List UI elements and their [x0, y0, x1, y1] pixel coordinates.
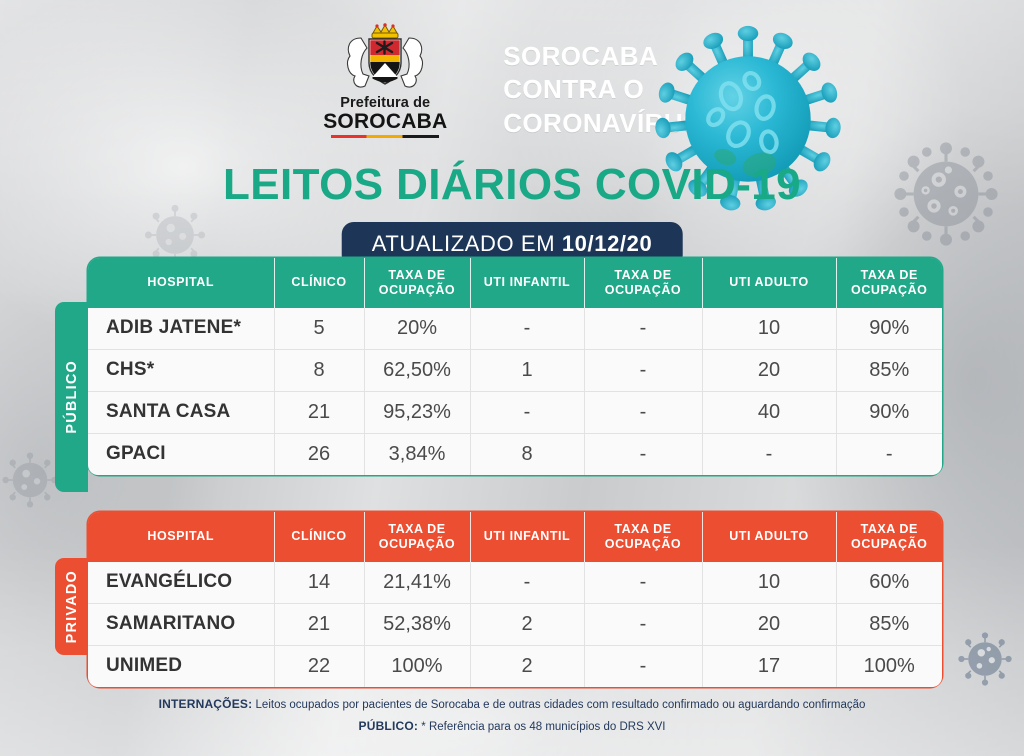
cell-taxa-infantil: -: [584, 645, 702, 687]
background-virus-icon: [954, 628, 1016, 690]
cell-uti-adulto: 10: [702, 308, 836, 350]
private-side-label-text: PRIVADO: [64, 570, 80, 643]
cell-uti-infantil: 2: [470, 603, 584, 645]
footer-line-1: INTERNAÇÕES: Leitos ocupados por pacient…: [0, 694, 1024, 716]
col-taxa-infantil: TAXA DE OCUPAÇÃO: [584, 512, 702, 562]
cell-clinico: 26: [274, 433, 364, 475]
cell-uti-adulto: 20: [702, 603, 836, 645]
table-row: UNIMED 22 100% 2 - 17 100%: [88, 645, 942, 687]
public-table-head: HOSPITAL CLÍNICO TAXA DE OCUPAÇÃO UTI IN…: [88, 258, 942, 308]
table-row: ADIB JATENE* 5 20% - - 10 90%: [88, 308, 942, 350]
table-row: SANTA CASA 21 95,23% - - 40 90%: [88, 391, 942, 433]
cell-taxa-adulto: 90%: [836, 308, 942, 350]
cell-uti-infantil: -: [470, 308, 584, 350]
cell-clinico: 8: [274, 349, 364, 391]
cell-taxa-infantil: -: [584, 308, 702, 350]
public-beds-table: HOSPITAL CLÍNICO TAXA DE OCUPAÇÃO UTI IN…: [88, 258, 942, 475]
footer-line-2: PÚBLICO: * Referência para os 48 municíp…: [0, 716, 1024, 738]
table-row: EVANGÉLICO 14 21,41% - - 10 60%: [88, 562, 942, 604]
cell-taxa-adulto: 90%: [836, 391, 942, 433]
cell-hospital: GPACI: [88, 433, 274, 475]
cell-uti-adulto: 40: [702, 391, 836, 433]
cell-hospital: ADIB JATENE*: [88, 308, 274, 350]
cell-taxa-adulto: 60%: [836, 562, 942, 604]
col-hospital: HOSPITAL: [88, 258, 274, 308]
prefeitura-logo: Prefeitura de SOROCABA: [323, 18, 447, 138]
cell-hospital: EVANGÉLICO: [88, 562, 274, 604]
updated-date-value: 10/12/20: [562, 231, 652, 256]
campaign-wordmark: SOROCABA CONTRA O CORONAVÍRUS: [503, 18, 700, 140]
page-title: LEITOS DIÁRIOS COVID-19: [0, 160, 1024, 210]
col-uti-adulto: UTI ADULTO: [702, 258, 836, 308]
cell-clinico: 21: [274, 603, 364, 645]
col-uti-adulto: UTI ADULTO: [702, 512, 836, 562]
prefeitura-rule: [331, 135, 439, 138]
cell-taxa-clinico: 3,84%: [364, 433, 470, 475]
col-clinico: CLÍNICO: [274, 512, 364, 562]
cell-taxa-clinico: 52,38%: [364, 603, 470, 645]
col-taxa-infantil: TAXA DE OCUPAÇÃO: [584, 258, 702, 308]
table-row: SAMARITANO 21 52,38% 2 - 20 85%: [88, 603, 942, 645]
private-table-head: HOSPITAL CLÍNICO TAXA DE OCUPAÇÃO UTI IN…: [88, 512, 942, 562]
cell-taxa-infantil: -: [584, 603, 702, 645]
cell-clinico: 5: [274, 308, 364, 350]
col-uti-infantil: UTI INFANTIL: [470, 512, 584, 562]
cell-taxa-clinico: 21,41%: [364, 562, 470, 604]
cell-taxa-infantil: -: [584, 391, 702, 433]
private-side-label: PRIVADO: [55, 558, 88, 655]
cell-uti-infantil: -: [470, 391, 584, 433]
cell-clinico: 21: [274, 391, 364, 433]
sorocaba-coat-of-arms-icon: [341, 22, 429, 96]
cell-hospital: SAMARITANO: [88, 603, 274, 645]
cell-taxa-adulto: 85%: [836, 349, 942, 391]
cell-uti-infantil: 1: [470, 349, 584, 391]
col-taxa-adulto: TAXA DE OCUPAÇÃO: [836, 512, 942, 562]
cell-clinico: 22: [274, 645, 364, 687]
col-taxa-adulto: TAXA DE OCUPAÇÃO: [836, 258, 942, 308]
col-taxa-clinico: TAXA DE OCUPAÇÃO: [364, 512, 470, 562]
cell-uti-adulto: 20: [702, 349, 836, 391]
table-row: CHS* 8 62,50% 1 - 20 85%: [88, 349, 942, 391]
cell-taxa-adulto: -: [836, 433, 942, 475]
public-table-body: ADIB JATENE* 5 20% - - 10 90% CHS* 8 62,…: [88, 308, 942, 475]
cell-taxa-clinico: 20%: [364, 308, 470, 350]
background-virus-icon: [0, 448, 62, 512]
cell-taxa-clinico: 95,23%: [364, 391, 470, 433]
cell-taxa-infantil: -: [584, 349, 702, 391]
cell-taxa-clinico: 62,50%: [364, 349, 470, 391]
footer-line-2-text: * Referência para os 48 municípios do DR…: [418, 721, 665, 733]
cell-hospital: UNIMED: [88, 645, 274, 687]
public-side-label: PÚBLICO: [55, 302, 88, 492]
prefeitura-label-line2: SOROCABA: [323, 111, 447, 133]
col-hospital: HOSPITAL: [88, 512, 274, 562]
private-table-body: EVANGÉLICO 14 21,41% - - 10 60% SAMARITA…: [88, 562, 942, 687]
table-row: GPACI 26 3,84% 8 - - -: [88, 433, 942, 475]
cell-clinico: 14: [274, 562, 364, 604]
col-uti-infantil: UTI INFANTIL: [470, 258, 584, 308]
public-table-section: PÚBLICO HOSPITAL CLÍNICO TAXA DE OCUPAÇÃ…: [88, 258, 942, 475]
cell-hospital: CHS*: [88, 349, 274, 391]
public-side-label-text: PÚBLICO: [64, 360, 80, 434]
footer-line-1-label: INTERNAÇÕES:: [159, 697, 253, 711]
cell-taxa-adulto: 85%: [836, 603, 942, 645]
cell-uti-infantil: 2: [470, 645, 584, 687]
cell-hospital: SANTA CASA: [88, 391, 274, 433]
footer-line-1-text: Leitos ocupados por pacientes de Sorocab…: [252, 699, 865, 711]
cell-taxa-adulto: 100%: [836, 645, 942, 687]
table-header-row: HOSPITAL CLÍNICO TAXA DE OCUPAÇÃO UTI IN…: [88, 512, 942, 562]
page-header: Prefeitura de SOROCABA: [0, 18, 1024, 138]
private-table-section: PRIVADO HOSPITAL CLÍNICO TAXA DE OCUPAÇÃ…: [88, 512, 942, 687]
cell-taxa-infantil: -: [584, 562, 702, 604]
cell-uti-adulto: -: [702, 433, 836, 475]
col-taxa-clinico: TAXA DE OCUPAÇÃO: [364, 258, 470, 308]
col-clinico: CLÍNICO: [274, 258, 364, 308]
table-header-row: HOSPITAL CLÍNICO TAXA DE OCUPAÇÃO UTI IN…: [88, 258, 942, 308]
cell-taxa-infantil: -: [584, 433, 702, 475]
cell-uti-infantil: -: [470, 562, 584, 604]
updated-label: ATUALIZADO EM: [372, 231, 562, 256]
cell-uti-infantil: 8: [470, 433, 584, 475]
cell-uti-adulto: 17: [702, 645, 836, 687]
cell-taxa-clinico: 100%: [364, 645, 470, 687]
footer-notes: INTERNAÇÕES: Leitos ocupados por pacient…: [0, 694, 1024, 738]
footer-line-2-label: PÚBLICO:: [359, 719, 419, 733]
prefeitura-label-line1: Prefeitura de: [340, 96, 430, 111]
private-beds-table: HOSPITAL CLÍNICO TAXA DE OCUPAÇÃO UTI IN…: [88, 512, 942, 687]
cell-uti-adulto: 10: [702, 562, 836, 604]
